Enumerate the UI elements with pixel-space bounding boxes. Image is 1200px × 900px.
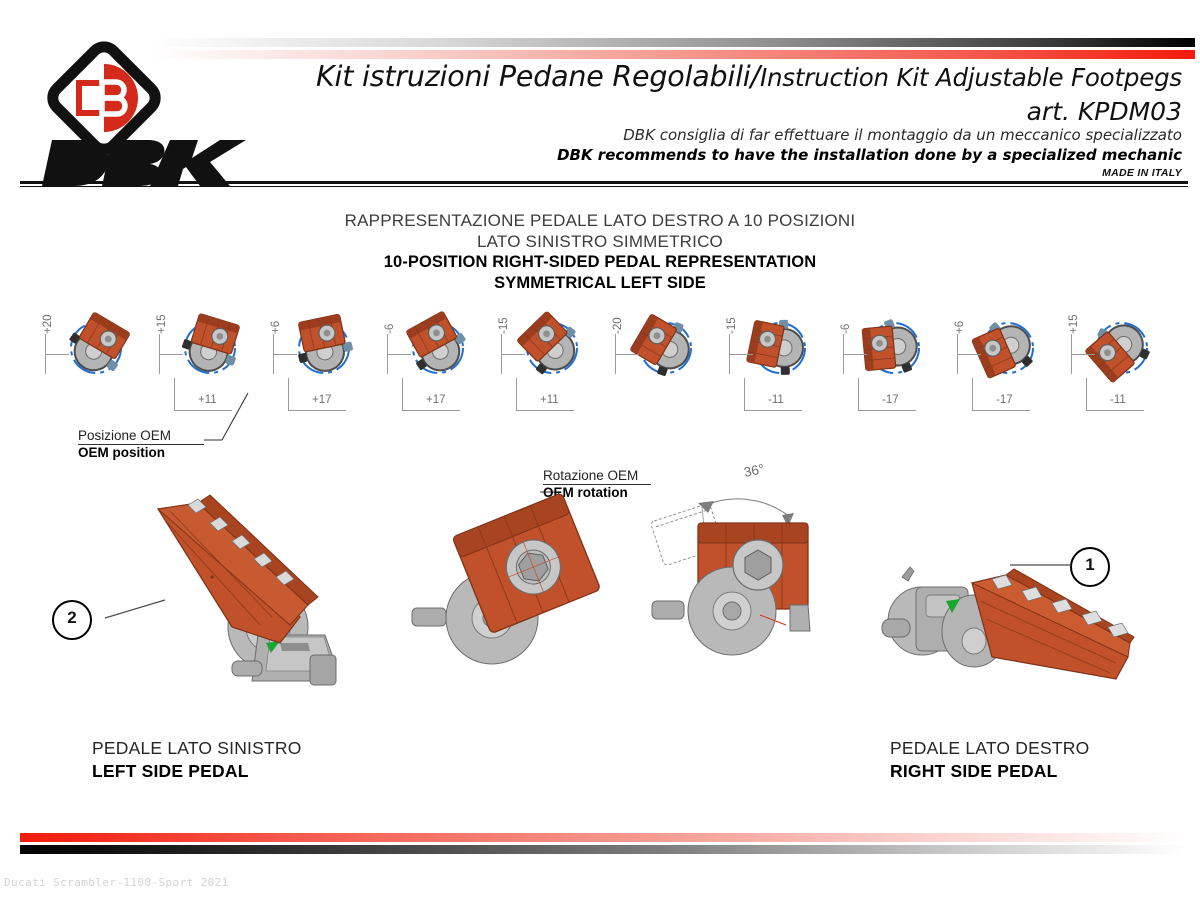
position-artwork-10	[1074, 300, 1170, 386]
oem-position-label-en: OEM position	[78, 445, 228, 461]
balloon-2[interactable]: 2	[52, 600, 92, 640]
horizontal-dimension-10: -11	[1110, 394, 1126, 406]
left-side-pedal-render	[140, 485, 360, 695]
horizontal-dimension-4: +17	[426, 394, 446, 406]
header-divider-thick	[20, 181, 1188, 184]
horizontal-dimension-line-7	[744, 410, 802, 411]
vertical-dimension-10: +15	[1068, 314, 1080, 334]
rotation-angle-render: 36°	[640, 455, 870, 685]
position-diagram-row: +20+15+11+6+17-6+17-15+11-20-15-11-6-17+…	[0, 282, 1200, 442]
horizontal-dimension-line-3	[288, 410, 346, 411]
horizontal-dimension-extension-2	[174, 378, 175, 410]
section-title-line1: RAPPRESENTAZIONE PEDALE LATO DESTRO A 10…	[0, 210, 1200, 231]
left-side-pedal-label-it: PEDALE LATO SINISTRO	[92, 737, 302, 760]
footer-red-gradient-bar	[20, 833, 1188, 842]
position-artwork-4	[390, 300, 486, 386]
position-artwork-1	[48, 300, 144, 386]
vertical-dimension-extension-7	[729, 354, 753, 355]
vertical-dimension-7: -15	[726, 317, 738, 334]
horizontal-dimension-3: +17	[312, 394, 332, 406]
vertical-dimension-5: -15	[498, 317, 510, 334]
position-diagram-8: -6-17	[826, 282, 944, 442]
right-side-pedal-label: PEDALE LATO DESTRO RIGHT SIDE PEDAL	[890, 737, 1089, 783]
position-artwork-3	[276, 300, 372, 386]
horizontal-dimension-extension-3	[288, 378, 289, 410]
position-diagram-9: +6-17	[940, 282, 1058, 442]
position-diagram-2: +15+11	[142, 282, 260, 442]
vertical-dimension-1: +20	[42, 314, 54, 334]
vertical-dimension-extension-8	[843, 354, 867, 355]
vertical-dimension-extension-1	[45, 354, 69, 355]
vertical-dimension-2: +15	[156, 314, 168, 334]
position-artwork-8	[846, 300, 942, 386]
horizontal-dimension-extension-10	[1086, 378, 1087, 410]
right-side-pedal-label-it: PEDALE LATO DESTRO	[890, 737, 1089, 760]
position-artwork-5	[504, 300, 600, 386]
horizontal-dimension-line-8	[858, 410, 916, 411]
horizontal-dimension-2: +11	[198, 394, 217, 406]
horizontal-dimension-extension-8	[858, 378, 859, 410]
horizontal-dimension-extension-5	[516, 378, 517, 410]
horizontal-dimension-extension-4	[402, 378, 403, 410]
horizontal-dimension-line-4	[402, 410, 460, 411]
position-diagram-6: -20	[598, 282, 716, 442]
horizontal-dimension-5: +11	[540, 394, 559, 406]
footer-black-gradient-bar	[20, 845, 1188, 854]
made-in-italy-text: MADE IN ITALY	[282, 167, 1182, 179]
advice-text-it: DBK consiglia di far effettuare il monta…	[282, 126, 1182, 144]
header-divider-thin	[20, 186, 1188, 187]
position-artwork-7	[732, 300, 828, 386]
position-diagram-7: -15-11	[712, 282, 830, 442]
horizontal-dimension-8: -17	[882, 394, 899, 406]
page-title-en: Instruction Kit Adjustable Footpegs	[760, 63, 1182, 92]
vertical-dimension-4: -6	[384, 324, 396, 334]
dbk-logo	[42, 48, 222, 188]
left-side-pedal-label: PEDALE LATO SINISTRO LEFT SIDE PEDAL	[92, 737, 302, 783]
vertical-dimension-extension-3	[273, 354, 297, 355]
oem-position-label-it: Posizione OEM	[78, 428, 228, 444]
vertical-dimension-extension-10	[1071, 354, 1095, 355]
section-title-line3: 10-POSITION RIGHT-SIDED PEDAL REPRESENTA…	[0, 252, 1200, 273]
left-side-pedal-label-en: LEFT SIDE PEDAL	[92, 760, 302, 783]
horizontal-dimension-9: -17	[996, 394, 1013, 406]
horizontal-dimension-line-9	[972, 410, 1030, 411]
position-diagram-5: -15+11	[484, 282, 602, 442]
page-title: Kit istruzioni Pedane Regolabili/Instruc…	[282, 60, 1182, 93]
position-diagram-10: +15-11	[1054, 282, 1172, 442]
header-red-gradient-bar	[150, 50, 1195, 59]
right-side-pedal-label-en: RIGHT SIDE PEDAL	[890, 760, 1089, 783]
header-grey-gradient-bar	[150, 38, 1195, 47]
position-artwork-6	[618, 300, 714, 386]
position-diagram-4: -6+17	[370, 282, 488, 442]
vertical-dimension-3: +6	[270, 321, 282, 334]
vertical-dimension-extension-4	[387, 354, 411, 355]
footer-model-note: Ducati Scrambler-1100-Sport 2021	[4, 876, 229, 889]
horizontal-dimension-line-5	[516, 410, 574, 411]
position-diagram-1: +20	[28, 282, 146, 442]
vertical-dimension-extension-2	[159, 354, 183, 355]
position-artwork-2	[162, 300, 258, 386]
vertical-dimension-extension-6	[615, 354, 639, 355]
horizontal-dimension-line-2	[174, 410, 232, 411]
rotation-angle-text: 36°	[743, 461, 766, 480]
oem-position-callout: Posizione OEM OEM position	[78, 428, 228, 461]
vertical-dimension-extension-5	[501, 354, 525, 355]
section-title-line2: LATO SINISTRO SIMMETRICO	[0, 231, 1200, 252]
vertical-dimension-9: +6	[954, 321, 966, 334]
page-title-it: Kit istruzioni Pedane Regolabili/	[316, 60, 760, 93]
article-number: art. KPDM03	[282, 97, 1182, 126]
vertical-dimension-6: -20	[612, 317, 624, 334]
horizontal-dimension-7: -11	[768, 394, 784, 406]
horizontal-dimension-extension-9	[972, 378, 973, 410]
instruction-sheet: Kit istruzioni Pedane Regolabili/Instruc…	[0, 0, 1200, 900]
advice-text-en: DBK recommends to have the installation …	[282, 146, 1182, 164]
oem-rotation-render	[420, 490, 640, 670]
balloon-1[interactable]: 1	[1070, 547, 1110, 587]
horizontal-dimension-line-10	[1086, 410, 1144, 411]
position-artwork-9	[960, 300, 1056, 386]
position-diagram-3: +6+17	[256, 282, 374, 442]
vertical-dimension-extension-9	[957, 354, 981, 355]
horizontal-dimension-extension-7	[744, 378, 745, 410]
vertical-dimension-8: -6	[840, 324, 852, 334]
